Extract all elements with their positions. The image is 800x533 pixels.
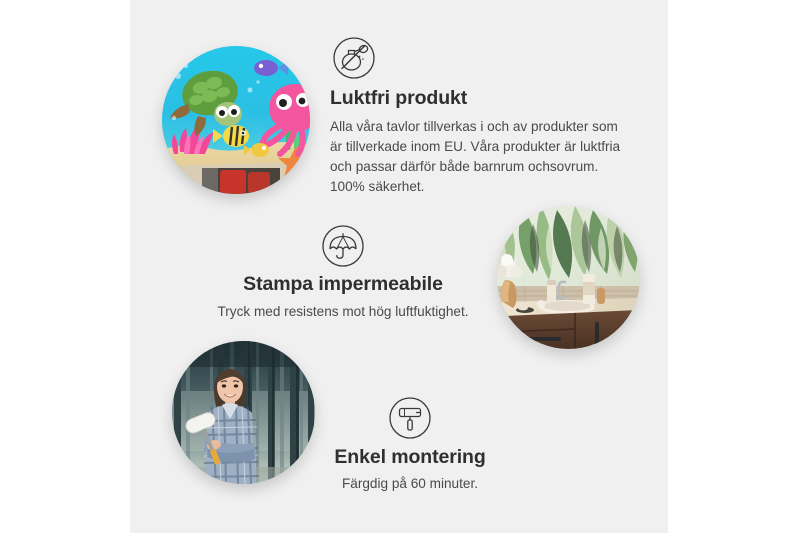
feature-description: Tryck med resistens mot hög luftfuktighe… — [198, 302, 488, 322]
feature-description: Färgdig på 60 minuter. — [305, 474, 515, 494]
feature-infographic: Luktfri produkt Alla våra tavlor tillver… — [0, 0, 800, 533]
feature-title: Luktfri produkt — [330, 86, 630, 110]
feature-easy-install: Enkel montering Färgdig på 60 minuter. — [305, 396, 515, 494]
feature-title: Enkel montering — [305, 445, 515, 469]
no-smell-perfume-bottle-icon — [332, 36, 376, 80]
feature-waterproof: Stampa impermeabile Tryck med resistens … — [198, 224, 488, 322]
bathroom-tropical-leaf-wallpaper-photo — [497, 206, 640, 349]
umbrella-icon — [321, 224, 365, 268]
underwater-cartoon-sea-turtle-octopus-photo — [162, 46, 310, 194]
feature-description: Alla våra tavlor tillverkas i och av pro… — [330, 117, 630, 197]
woman-paint-roller-forest-wallpaper-photo — [172, 341, 315, 484]
feature-title: Stampa impermeabile — [198, 272, 488, 296]
paint-roller-icon — [388, 396, 432, 440]
feature-odourless: Luktfri produkt Alla våra tavlor tillver… — [330, 36, 630, 197]
